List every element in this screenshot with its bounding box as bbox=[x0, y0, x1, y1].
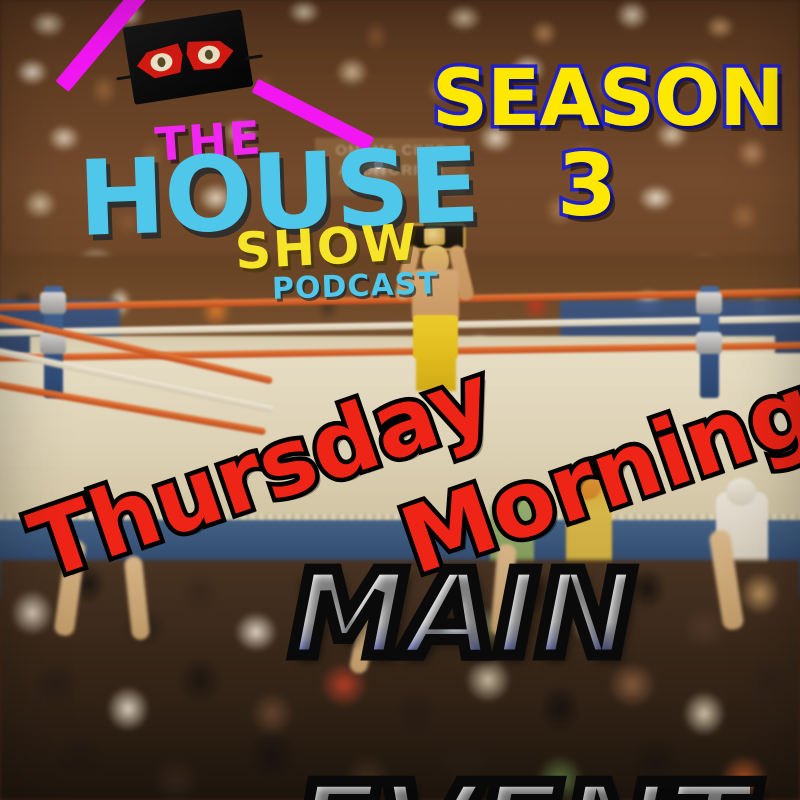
logo-word-podcast: PODCAST bbox=[272, 269, 440, 305]
season-badge: SEASON 3 bbox=[432, 62, 742, 229]
podcast-cover-art: OMAHA CIVIC AUDITORIUM bbox=[0, 0, 800, 800]
season-number: 3 bbox=[432, 143, 742, 229]
mask-eye-right bbox=[183, 33, 238, 76]
main-event-line-main: MAIN MAIN bbox=[290, 555, 800, 673]
graphics-overlay: THE HOUSE SHOW PODCAST SEASON 3 Thursday… bbox=[0, 0, 800, 800]
main-event-line-event: EVENT EVENT bbox=[292, 768, 800, 800]
main-event-event-outline: EVENT bbox=[292, 768, 750, 800]
main-event-main-outline: MAIN bbox=[290, 555, 633, 673]
season-label: SEASON bbox=[432, 62, 742, 137]
luchador-mask-icon bbox=[123, 9, 254, 105]
